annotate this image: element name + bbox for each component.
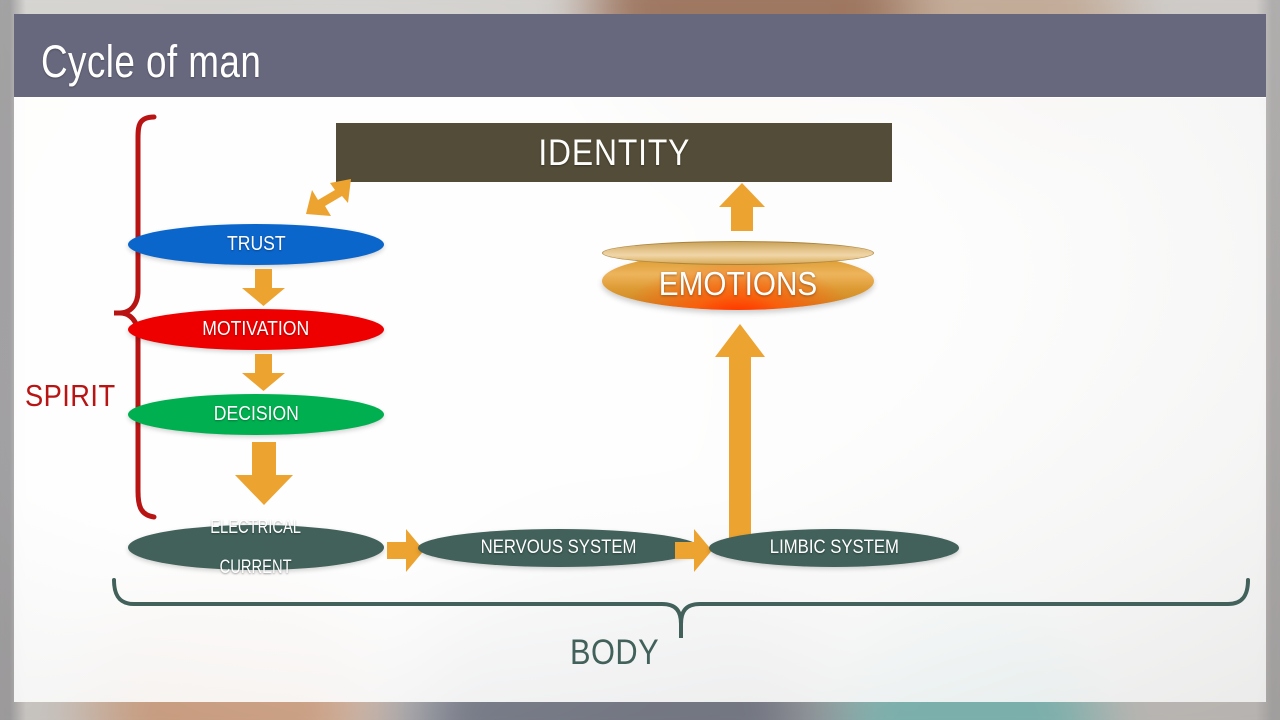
arrow-right-icon	[675, 528, 713, 578]
emotions-label: EMOTIONS	[602, 263, 874, 303]
body-label: BODY	[570, 635, 659, 670]
node-electrical-current[interactable]: ELECTRICAL CURRENT	[128, 525, 384, 570]
slide-stage: Cycle of man IDENTITY SPIRIT TRUST MOTIV…	[0, 0, 1280, 720]
node-limbic-system-label: LIMBIC SYSTEM	[769, 537, 898, 559]
cylinder-top	[602, 241, 874, 265]
node-motivation-label: MOTIVATION	[203, 318, 310, 341]
node-limbic-system[interactable]: LIMBIC SYSTEM	[709, 529, 959, 567]
arrow-up-right-icon	[304, 173, 358, 232]
node-nervous-system[interactable]: NERVOUS SYSTEM	[418, 529, 700, 567]
arrow-down-icon	[241, 269, 286, 312]
arrow-down-icon	[233, 442, 295, 512]
emotions-cylinder[interactable]: EMOTIONS	[602, 241, 874, 317]
slide-title-bar: Cycle of man	[14, 14, 1266, 97]
arrow-right-icon	[387, 528, 425, 578]
page-title: Cycle of man	[41, 39, 261, 84]
node-decision-label: DECISION	[213, 403, 298, 426]
node-motivation[interactable]: MOTIVATION	[128, 309, 384, 350]
identity-label: IDENTITY	[538, 134, 690, 171]
node-nervous-system-label: NERVOUS SYSTEM	[481, 537, 637, 559]
node-trust-label: TRUST	[227, 233, 286, 256]
arrow-down-icon	[241, 354, 286, 397]
arrow-up-icon	[713, 323, 767, 550]
node-decision[interactable]: DECISION	[128, 394, 384, 435]
arrow-up-icon	[717, 182, 767, 237]
slide-canvas: IDENTITY SPIRIT TRUST MOTIVATION DECISIO…	[14, 97, 1266, 702]
spirit-label: SPIRIT	[25, 380, 116, 411]
body-brace	[110, 578, 1252, 643]
identity-box[interactable]: IDENTITY	[336, 123, 892, 182]
presentation-slide: Cycle of man IDENTITY SPIRIT TRUST MOTIV…	[14, 14, 1266, 702]
node-electrical-current-label: ELECTRICAL CURRENT	[204, 518, 307, 578]
